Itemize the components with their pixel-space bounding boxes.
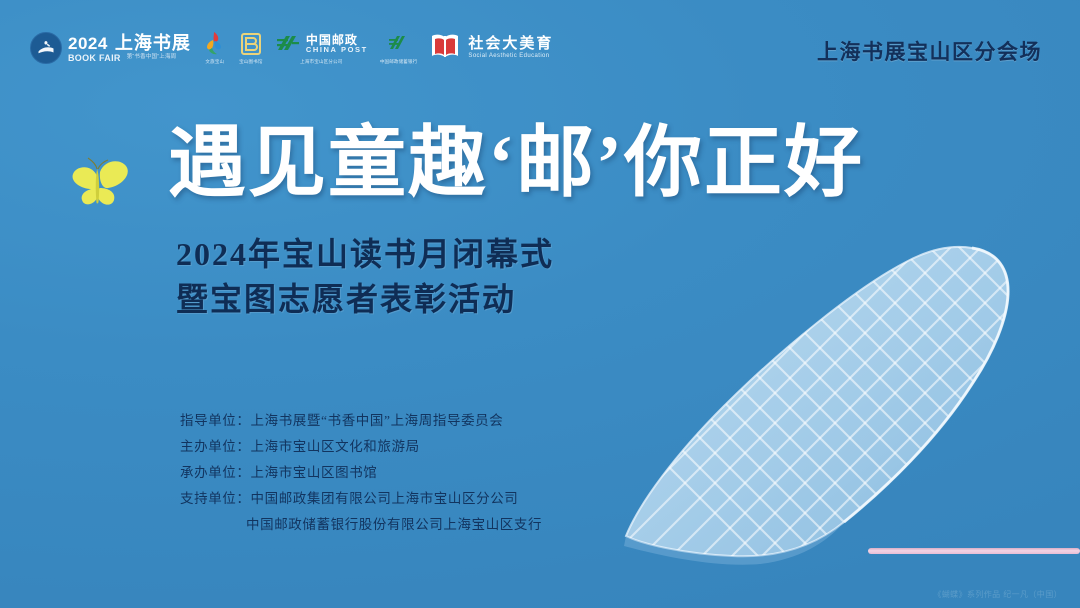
artwork-caption: 《蝴蝶》系列作品 纪一凡（中国） [933,589,1062,600]
china-post-caption: 上海市宝山区分公司 [300,59,342,65]
logo-china-post: 中国邮政 CHINA POST 上海市宝山区分公司 [275,27,368,69]
book-fair-emblem-icon [30,32,62,64]
open-book-icon [429,32,461,65]
book-fair-year: 2024 [68,35,108,52]
net-handle-rod [868,548,1080,554]
china-post-name-en: CHINA POST [306,46,368,54]
sae-name-cn: 社会大美育 [468,36,553,53]
page-title: 遇见童趣‘邮’你正好 [168,124,864,202]
poster-canvas: 2024 上海书展 BOOK FAIR 第“书香中国”上海周 文旅宝山 [0,0,1080,608]
page-subtitle: 2024年宝山读书月闭幕式 暨宝图志愿者表彰活动 [176,232,554,323]
venue-label: 上海书展宝山区分会场 [817,36,1042,66]
culture-tourism-icon [203,31,227,57]
organizer-credits: 指导单位：上海书展暨“书香中国”上海周指导委员会 主办单位：上海市宝山区文化和旅… [180,408,542,538]
book-fair-wordmark: 2024 上海书展 BOOK FAIR 第“书香中国”上海周 [68,34,191,63]
butterfly-icon [60,152,138,224]
subtitle-line-1: 2024年宝山读书月闭幕式 [176,232,554,277]
logo-psbc: 中国邮政储蓄银行 [380,27,418,69]
logo-shanghai-book-fair: 2024 上海书展 BOOK FAIR 第“书香中国”上海周 [30,26,191,70]
book-fair-name-en: BOOK FAIR [68,54,121,63]
psbc-icon [388,31,410,57]
china-post-icon: 中国邮政 CHINA POST [275,31,368,57]
logo-social-aesthetic-education: 社会大美育 Social Aesthetic Education [429,26,553,70]
credit-line: 主办单位：上海市宝山区文化和旅游局 [180,434,542,460]
butterfly-net-icon [620,218,1080,578]
credit-line: 支持单位：中国邮政集团有限公司上海市宝山区分公司 [180,486,542,512]
logo-baoshan-library: 宝山图书馆 [239,27,263,69]
baoshan-library-caption: 宝山图书馆 [239,59,263,65]
logo-culture-tourism: 文旅宝山 [203,27,227,69]
baoshan-library-icon [239,31,263,57]
sponsor-logo-bar: 2024 上海书展 BOOK FAIR 第“书香中国”上海周 文旅宝山 [30,26,553,70]
subtitle-line-2: 暨宝图志愿者表彰活动 [176,277,554,322]
credit-line-continuation: 中国邮政储蓄银行股份有限公司上海宝山区支行 [180,512,542,538]
psbc-caption: 中国邮政储蓄银行 [380,59,418,65]
book-fair-tagline: 第“书香中国”上海周 [127,55,177,61]
culture-tourism-caption: 文旅宝山 [205,59,224,65]
sae-name-en: Social Aesthetic Education [468,53,553,60]
credit-line: 承办单位：上海市宝山区图书馆 [180,460,542,486]
book-fair-name-cn: 上海书展 [115,34,191,52]
credit-line: 指导单位：上海书展暨“书香中国”上海周指导委员会 [180,408,542,434]
